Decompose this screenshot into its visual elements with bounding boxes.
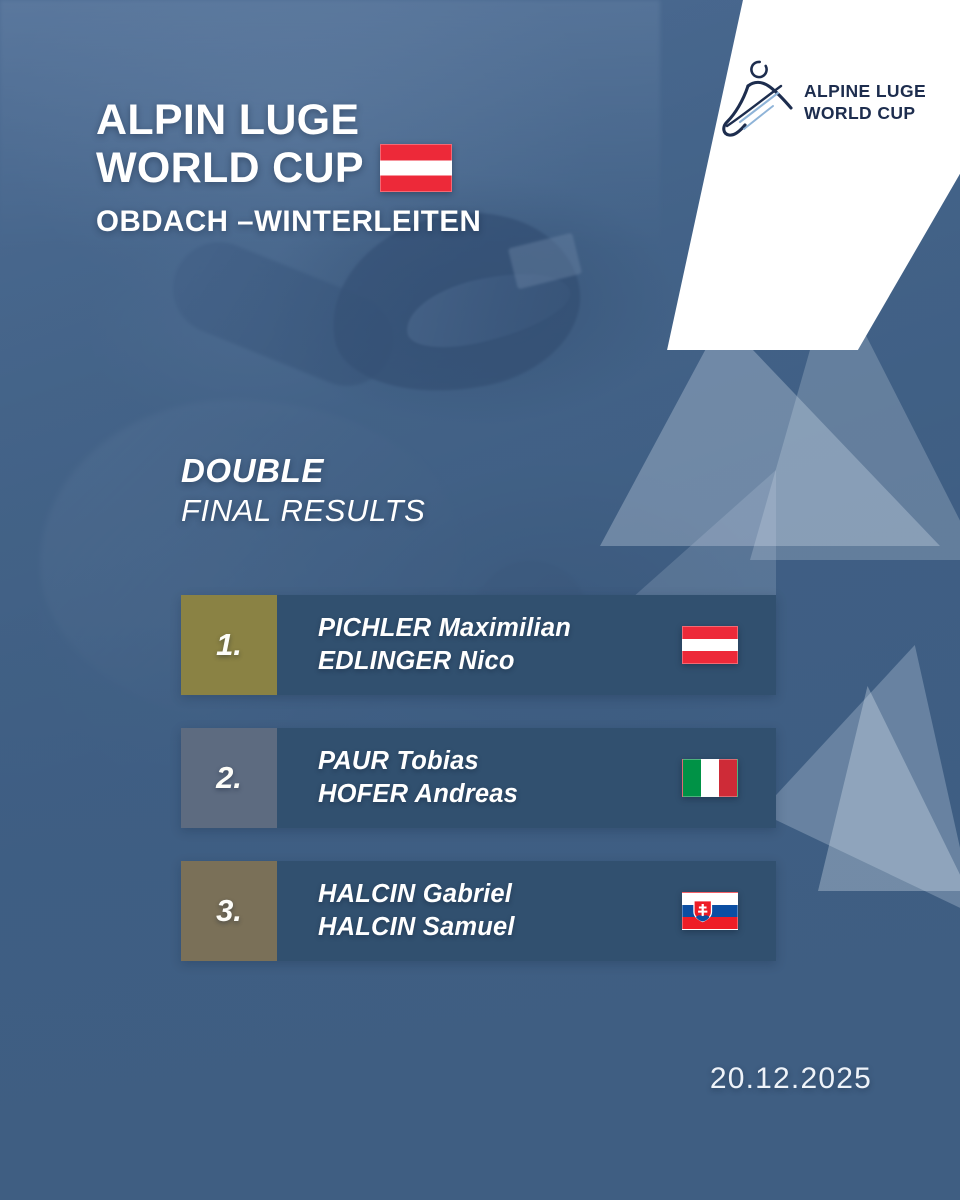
logo-line-1: ALPINE LUGE [804,80,926,102]
flag-austria-icon [380,144,452,192]
logo-text: ALPINE LUGE WORLD CUP [804,80,926,124]
flag-slovakia-icon [682,892,738,930]
athlete-name-2: HALCIN Samuel [318,911,515,944]
event-location: OBDACH –WINTERLEITEN [96,205,616,239]
athlete-name-2: EDLINGER Nico [318,645,571,678]
results-label: FINAL RESULTS [181,493,425,529]
flag-italy-icon [682,759,738,797]
athlete-name-1: PICHLER Maximilian [318,612,571,645]
athlete-cell: PICHLER Maximilian EDLINGER Nico [277,595,776,695]
athlete-name-2: HOFER Andreas [318,778,518,811]
results-list: 1. PICHLER Maximilian EDLINGER Nico 2. P… [181,595,776,994]
event-date: 20.12.2025 [710,1062,872,1096]
category-label: DOUBLE [181,452,425,490]
athlete-name-1: PAUR Tobias [318,745,518,778]
logo-line-2: WORLD CUP [804,102,926,124]
athlete-name-1: HALCIN Gabriel [318,878,515,911]
headline-block: ALPIN LUGE WORLD CUP OBDACH –WINTERLEITE… [96,96,616,239]
table-row[interactable]: 2. PAUR Tobias HOFER Andreas [181,728,776,828]
results-poster: ALPINE LUGE WORLD CUP ALPIN LUGE WORLD C… [0,0,960,1200]
table-row[interactable]: 3. HALCIN Gabriel HALCIN Samuel [181,861,776,961]
athlete-cell: PAUR Tobias HOFER Andreas [277,728,776,828]
rank-badge: 2. [181,728,277,828]
slovakia-coat-of-arms-icon [693,900,712,922]
athlete-names: PICHLER Maximilian EDLINGER Nico [318,612,571,678]
event-logo: ALPINE LUGE WORLD CUP [718,42,948,162]
athlete-names: PAUR Tobias HOFER Andreas [318,745,518,811]
rank-badge: 3. [181,861,277,961]
page-title-line-1: ALPIN LUGE [96,96,616,144]
athlete-cell: HALCIN Gabriel HALCIN Samuel [277,861,776,961]
flag-austria-icon [682,626,738,664]
luge-athlete-icon [718,56,796,148]
section-header: DOUBLE FINAL RESULTS [181,452,425,529]
table-row[interactable]: 1. PICHLER Maximilian EDLINGER Nico [181,595,776,695]
page-title-line-2: WORLD CUP [96,144,364,192]
athlete-names: HALCIN Gabriel HALCIN Samuel [318,878,515,944]
rank-badge: 1. [181,595,277,695]
